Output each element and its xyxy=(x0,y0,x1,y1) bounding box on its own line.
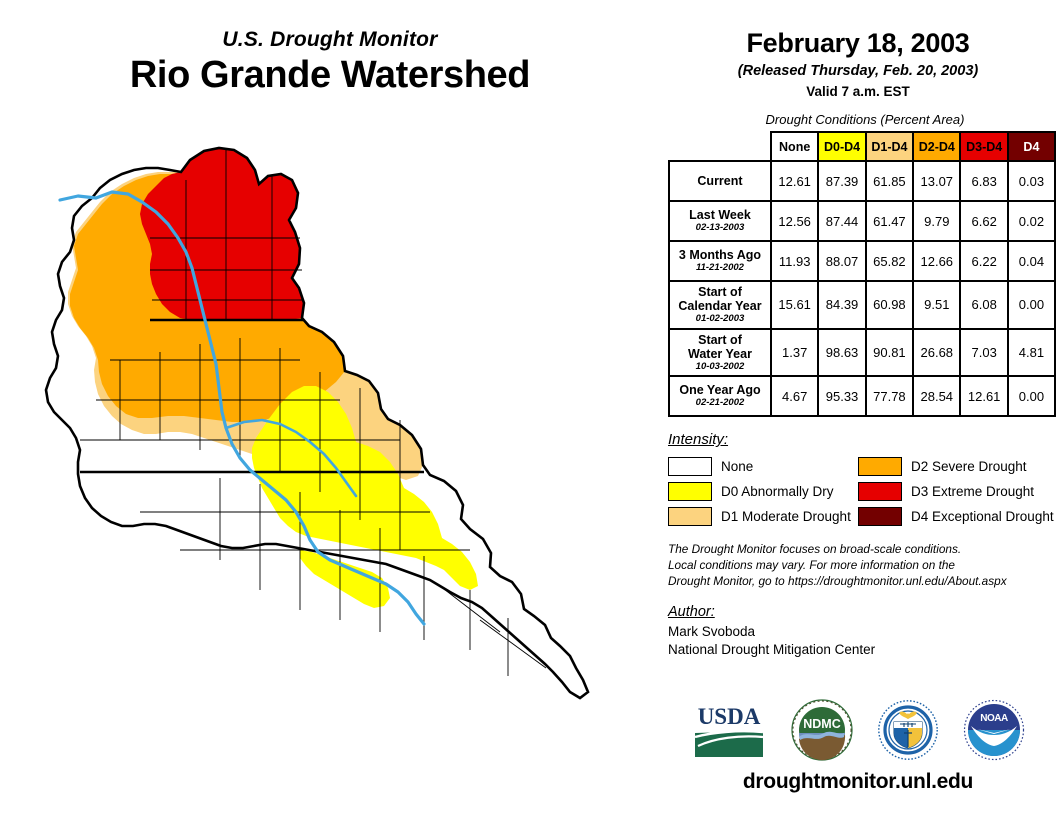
table-row: Last Week 02-13-2003 12.56 87.44 61.47 9… xyxy=(669,201,1055,241)
cell-d4: 0.02 xyxy=(1008,201,1055,241)
commerce-logo xyxy=(877,699,939,761)
swatch-d3 xyxy=(858,482,902,501)
row-date: 02-21-2002 xyxy=(672,398,768,409)
logo-row: USDA NDMC xyxy=(660,690,1056,770)
legend-label: None xyxy=(721,459,753,474)
row-label-3-months-ago: 3 Months Ago 11-21-2002 xyxy=(669,241,771,281)
row-date: 02-13-2003 xyxy=(672,223,768,234)
cell-d1d4: 65.82 xyxy=(866,241,913,281)
row-label-one-year-ago: One Year Ago 02-21-2002 xyxy=(669,376,771,416)
row-title: Last Week xyxy=(689,208,751,222)
cell-d0d4: 88.07 xyxy=(818,241,865,281)
legend-item-d2: D2 Severe Drought xyxy=(858,454,1054,479)
author-name: Mark Svoboda xyxy=(668,623,1056,641)
cell-d1d4: 77.78 xyxy=(866,376,913,416)
table-row: Start of Water Year 10-03-2002 1.37 98.6… xyxy=(669,329,1055,377)
cell-d3d4: 12.61 xyxy=(960,376,1007,416)
cell-d0d4: 87.39 xyxy=(818,161,865,201)
map-title-block: U.S. Drought Monitor Rio Grande Watershe… xyxy=(0,28,660,97)
cell-none: 15.61 xyxy=(771,281,818,329)
author-block: Author: Mark Svoboda National Drought Mi… xyxy=(668,604,1056,659)
valid-time: Valid 7 a.m. EST xyxy=(660,84,1056,99)
noaa-logo: NOAA xyxy=(963,699,1025,761)
usda-logo: USDA xyxy=(691,701,767,759)
cell-none: 1.37 xyxy=(771,329,818,377)
cell-d2d4: 9.79 xyxy=(913,201,960,241)
legend-label: D1 Moderate Drought xyxy=(721,509,851,524)
row-label-last-week: Last Week 02-13-2003 xyxy=(669,201,771,241)
watershed-shape xyxy=(46,148,588,714)
cell-d4: 0.03 xyxy=(1008,161,1055,201)
cell-none: 11.93 xyxy=(771,241,818,281)
cell-none: 4.67 xyxy=(771,376,818,416)
legend-label: D3 Extreme Drought xyxy=(911,484,1034,499)
row-title: Current xyxy=(697,174,742,188)
cell-d0d4: 98.63 xyxy=(818,329,865,377)
row-title: Start of Calendar Year xyxy=(678,285,761,313)
row-label-current: Current xyxy=(669,161,771,201)
swatch-none xyxy=(668,457,712,476)
cell-d4: 0.00 xyxy=(1008,376,1055,416)
legend-item-d0: D0 Abnormally Dry xyxy=(668,479,858,504)
swatch-d0 xyxy=(668,482,712,501)
cell-d1d4: 61.47 xyxy=(866,201,913,241)
column-header-d0d4: D0-D4 xyxy=(818,132,865,161)
intensity-legend: Intensity: None D0 Abnormally Dry D1 Mod… xyxy=(668,431,1056,529)
legend-column-left: None D0 Abnormally Dry D1 Moderate Droug… xyxy=(668,454,858,529)
swatch-d4 xyxy=(858,507,902,526)
cell-d4: 0.04 xyxy=(1008,241,1055,281)
legend-column-right: D2 Severe Drought D3 Extreme Drought D4 … xyxy=(858,454,1054,529)
note-line-2: Local conditions may vary. For more info… xyxy=(668,558,1056,574)
column-header-d1d4: D1-D4 xyxy=(866,132,913,161)
legend-item-d3: D3 Extreme Drought xyxy=(858,479,1054,504)
row-date: 11-21-2002 xyxy=(672,263,768,274)
swatch-d2 xyxy=(858,457,902,476)
column-header-none: None xyxy=(771,132,818,161)
row-title: One Year Ago xyxy=(679,383,760,397)
table-corner-cell xyxy=(669,132,771,161)
map-main-title: Rio Grande Watershed xyxy=(0,54,660,97)
cell-d3d4: 6.83 xyxy=(960,161,1007,201)
column-header-d3d4: D3-D4 xyxy=(960,132,1007,161)
row-label-start-calendar-year: Start of Calendar Year 01-02-2003 xyxy=(669,281,771,329)
cell-d2d4: 26.68 xyxy=(913,329,960,377)
ndmc-logo-text: NDMC xyxy=(803,717,841,731)
usda-logo-text: USDA xyxy=(698,704,761,729)
cell-d4: 4.81 xyxy=(1008,329,1055,377)
table-row: 3 Months Ago 11-21-2002 11.93 88.07 65.8… xyxy=(669,241,1055,281)
intensity-heading: Intensity: xyxy=(668,431,1056,448)
row-date: 01-02-2003 xyxy=(672,314,768,325)
ndmc-logo: NDMC xyxy=(791,699,853,761)
drought-conditions-table: None D0-D4 D1-D4 D2-D4 D3-D4 D4 Current … xyxy=(668,131,1056,417)
website-url[interactable]: droughtmonitor.unl.edu xyxy=(660,770,1056,794)
legend-label: D4 Exceptional Drought xyxy=(911,509,1054,524)
cell-d3d4: 6.62 xyxy=(960,201,1007,241)
author-heading: Author: xyxy=(668,604,1056,620)
legend-item-d4: D4 Exceptional Drought xyxy=(858,504,1054,529)
table-caption: Drought Conditions (Percent Area) xyxy=(674,112,1056,127)
cell-d1d4: 61.85 xyxy=(866,161,913,201)
cell-none: 12.61 xyxy=(771,161,818,201)
cell-d0d4: 84.39 xyxy=(818,281,865,329)
legend-item-d1: D1 Moderate Drought xyxy=(668,504,858,529)
cell-d4: 0.00 xyxy=(1008,281,1055,329)
row-title: Start of Water Year xyxy=(688,333,752,361)
cell-none: 12.56 xyxy=(771,201,818,241)
cell-d1d4: 90.81 xyxy=(866,329,913,377)
table-row: Start of Calendar Year 01-02-2003 15.61 … xyxy=(669,281,1055,329)
cell-d2d4: 12.66 xyxy=(913,241,960,281)
cell-d2d4: 9.51 xyxy=(913,281,960,329)
author-organization: National Drought Mitigation Center xyxy=(668,641,1056,659)
row-date: 10-03-2002 xyxy=(672,362,768,373)
row-label-start-water-year: Start of Water Year 10-03-2002 xyxy=(669,329,771,377)
row-title: 3 Months Ago xyxy=(679,248,761,262)
drought-monitor-page: U.S. Drought Monitor Rio Grande Watershe… xyxy=(0,0,1056,816)
map-panel: U.S. Drought Monitor Rio Grande Watershe… xyxy=(0,0,660,816)
cell-d0d4: 95.33 xyxy=(818,376,865,416)
cell-d3d4: 6.22 xyxy=(960,241,1007,281)
legend-label: D2 Severe Drought xyxy=(911,459,1027,474)
swatch-d1 xyxy=(668,507,712,526)
release-date: (Released Thursday, Feb. 20, 2003) xyxy=(660,63,1056,79)
cell-d2d4: 13.07 xyxy=(913,161,960,201)
table-row: Current 12.61 87.39 61.85 13.07 6.83 0.0… xyxy=(669,161,1055,201)
header-block: February 18, 2003 (Released Thursday, Fe… xyxy=(660,28,1056,99)
table-header-row: None D0-D4 D1-D4 D2-D4 D3-D4 D4 xyxy=(669,132,1055,161)
table-row: One Year Ago 02-21-2002 4.67 95.33 77.78… xyxy=(669,376,1055,416)
info-panel: February 18, 2003 (Released Thursday, Fe… xyxy=(660,0,1056,816)
legend-item-none: None xyxy=(668,454,858,479)
cell-d3d4: 7.03 xyxy=(960,329,1007,377)
note-line-1: The Drought Monitor focuses on broad-sca… xyxy=(668,542,1056,558)
report-date: February 18, 2003 xyxy=(660,28,1056,59)
cell-d3d4: 6.08 xyxy=(960,281,1007,329)
legend-label: D0 Abnormally Dry xyxy=(721,484,834,499)
disclaimer-notes: The Drought Monitor focuses on broad-sca… xyxy=(668,542,1056,589)
cell-d1d4: 60.98 xyxy=(866,281,913,329)
watershed-map[interactable] xyxy=(0,120,660,820)
column-header-d2d4: D2-D4 xyxy=(913,132,960,161)
column-header-d4: D4 xyxy=(1008,132,1055,161)
cell-d2d4: 28.54 xyxy=(913,376,960,416)
note-line-3: Drought Monitor, go to https://droughtmo… xyxy=(668,574,1056,590)
map-subtitle: U.S. Drought Monitor xyxy=(0,28,660,52)
cell-d0d4: 87.44 xyxy=(818,201,865,241)
noaa-logo-text: NOAA xyxy=(980,713,1008,724)
